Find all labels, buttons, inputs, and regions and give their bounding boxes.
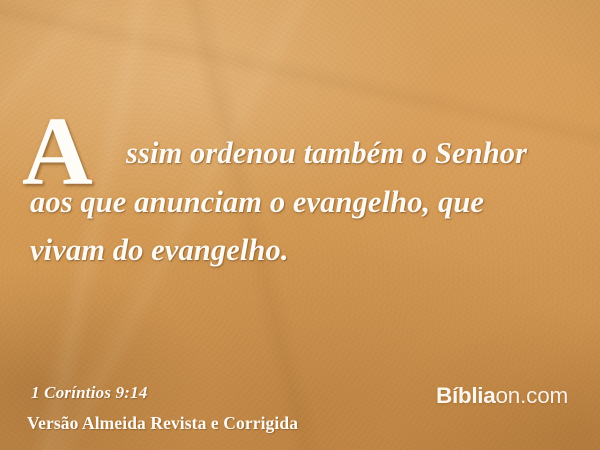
verse-reference: 1 Coríntios 9:14: [31, 383, 148, 403]
verse-image-card: A ssim ordenou também o Senhor aos que a…: [0, 0, 600, 450]
verse-line-3: vivam do evangelho.: [30, 226, 566, 274]
verse-line-1: ssim ordenou também o Senhor: [30, 128, 566, 178]
logo-text-light: on.com: [495, 383, 568, 408]
verse-text-block: ssim ordenou também o Senhor aos que anu…: [30, 128, 566, 274]
logo-text-strong: Bíblia: [436, 383, 495, 408]
bible-version-label: Versão Almeida Revista e Corrigida: [27, 413, 298, 434]
verse-line-2: aos que anunciam o evangelho, que: [30, 178, 566, 226]
bibliaon-logo: Bíbliaon.com: [436, 384, 568, 408]
